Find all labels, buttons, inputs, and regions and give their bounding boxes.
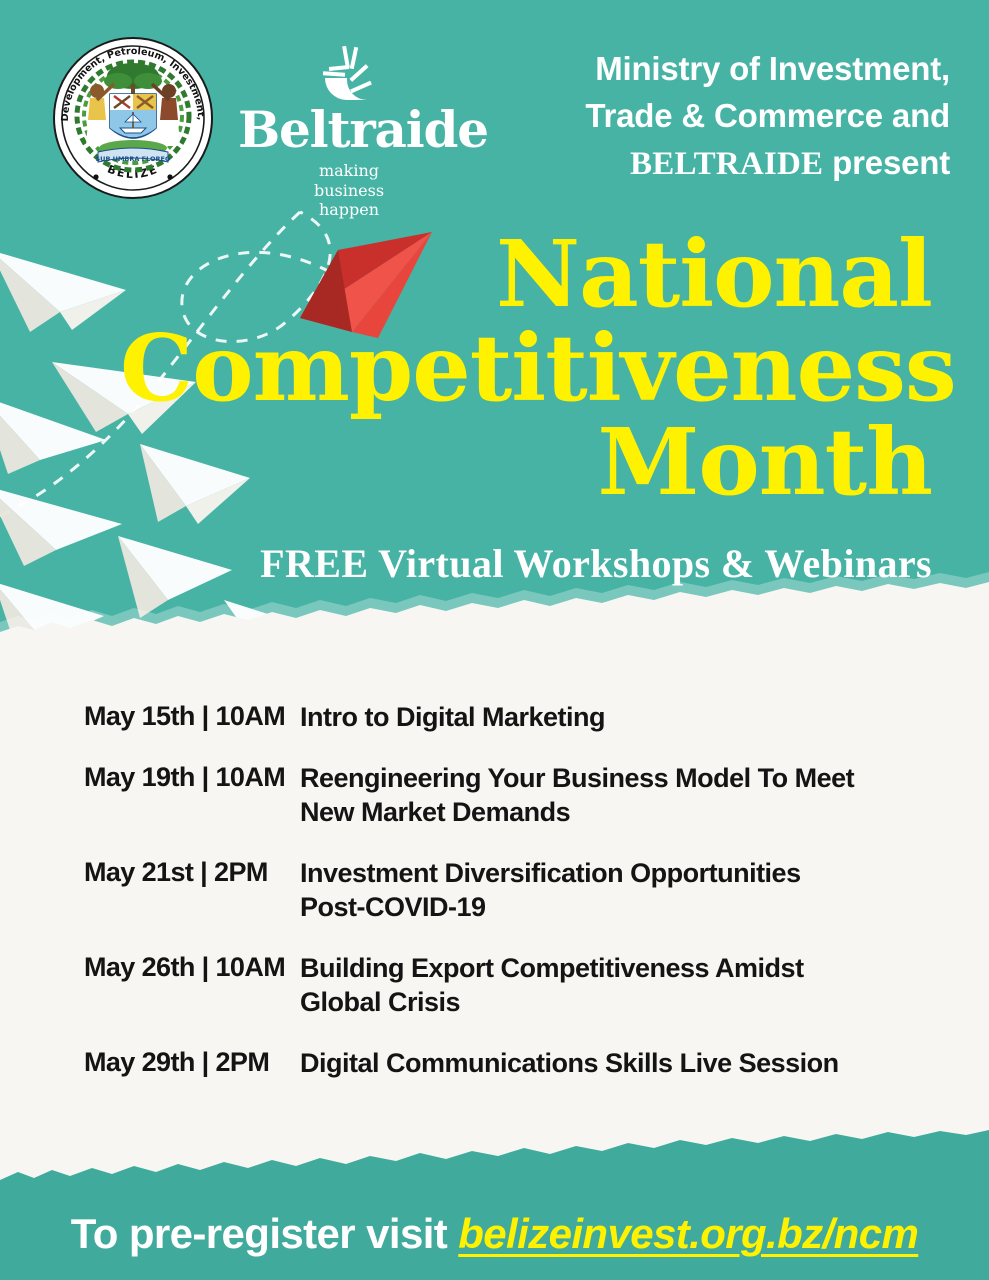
session-title-line-2: New Market Demands <box>300 795 939 830</box>
beltraide-name: BELTRAIDE <box>630 146 823 182</box>
schedule-row: May 19th | 10AM Reengineering Your Busin… <box>0 761 989 830</box>
registration-url[interactable]: belizeinvest.org.bz/ncm <box>458 1210 918 1257</box>
session-title-line-1: Reengineering Your Business Model To Mee… <box>300 761 939 796</box>
beltraide-tagline: making business happen <box>238 161 460 220</box>
schedule-datetime: May 19th | 10AM <box>0 761 300 794</box>
beltraide-wordmark: Beltraide <box>238 106 460 153</box>
belize-seal-icon: Ministry of Economic Development, Petrol… <box>52 36 214 200</box>
schedule-session-title: Investment Diversification Opportunities… <box>300 856 989 925</box>
schedule-row: May 29th | 2PM Digital Communications Sk… <box>0 1046 989 1081</box>
presenter-line-1: Ministry of Investment, <box>480 46 950 93</box>
presenter-line-3: BELTRAIDE present <box>480 140 950 188</box>
torn-paper-edge-bottom <box>0 1128 989 1188</box>
session-title-line-1: Investment Diversification Opportunities <box>300 856 939 891</box>
schedule-datetime: May 26th | 10AM <box>0 951 300 984</box>
page-title: National Competitiveness Month <box>120 228 932 509</box>
title-line-1: National <box>120 228 932 322</box>
session-title-line-1: Digital Communications Skills Live Sessi… <box>300 1046 939 1081</box>
schedule-list: May 15th | 10AM Intro to Digital Marketi… <box>0 700 989 1106</box>
session-title-line-2: Global Crisis <box>300 985 939 1020</box>
session-title-line-1: Intro to Digital Marketing <box>300 700 939 735</box>
schedule-datetime: May 29th | 2PM <box>0 1046 300 1079</box>
presenter-text: Ministry of Investment, Trade & Commerce… <box>480 46 950 188</box>
schedule-session-title: Intro to Digital Marketing <box>300 700 989 735</box>
footer-register-line: To pre-register visit belizeinvest.org.b… <box>0 1210 989 1258</box>
schedule-datetime: May 15th | 10AM <box>0 700 300 733</box>
footer-lead-text: To pre-register visit <box>71 1210 458 1257</box>
tagline-line-2: business <box>314 181 384 200</box>
tagline-line-1: making <box>319 161 379 180</box>
page-subtitle: FREE Virtual Workshops & Webinars <box>120 540 932 587</box>
presenter-line-2: Trade & Commerce and <box>480 93 950 140</box>
schedule-row: May 21st | 2PM Investment Diversificatio… <box>0 856 989 925</box>
schedule-session-title: Building Export Competitiveness Amidst G… <box>300 951 989 1020</box>
hero-panel: Ministry of Economic Development, Petrol… <box>0 0 989 648</box>
tagline-line-3: happen <box>319 200 379 219</box>
title-line-2: Competitiveness <box>120 322 932 416</box>
session-title-line-1: Building Export Competitiveness Amidst <box>300 951 939 986</box>
footer-panel: To pre-register visit belizeinvest.org.b… <box>0 1128 989 1280</box>
svg-text:SUB UMBRA FLOREO: SUB UMBRA FLOREO <box>95 155 170 163</box>
schedule-session-title: Reengineering Your Business Model To Mee… <box>300 761 989 830</box>
title-line-3: Month <box>120 416 932 510</box>
session-title-line-2: Post-COVID-19 <box>300 890 939 925</box>
beltraide-burst-icon <box>313 44 385 108</box>
schedule-row: May 15th | 10AM Intro to Digital Marketi… <box>0 700 989 735</box>
schedule-session-title: Digital Communications Skills Live Sessi… <box>300 1046 989 1081</box>
schedule-row: May 26th | 10AM Building Export Competit… <box>0 951 989 1020</box>
present-word: present <box>823 144 950 181</box>
schedule-datetime: May 21st | 2PM <box>0 856 300 889</box>
poster: Ministry of Economic Development, Petrol… <box>0 0 989 1280</box>
beltraide-logo: Beltraide making business happen <box>238 44 460 206</box>
